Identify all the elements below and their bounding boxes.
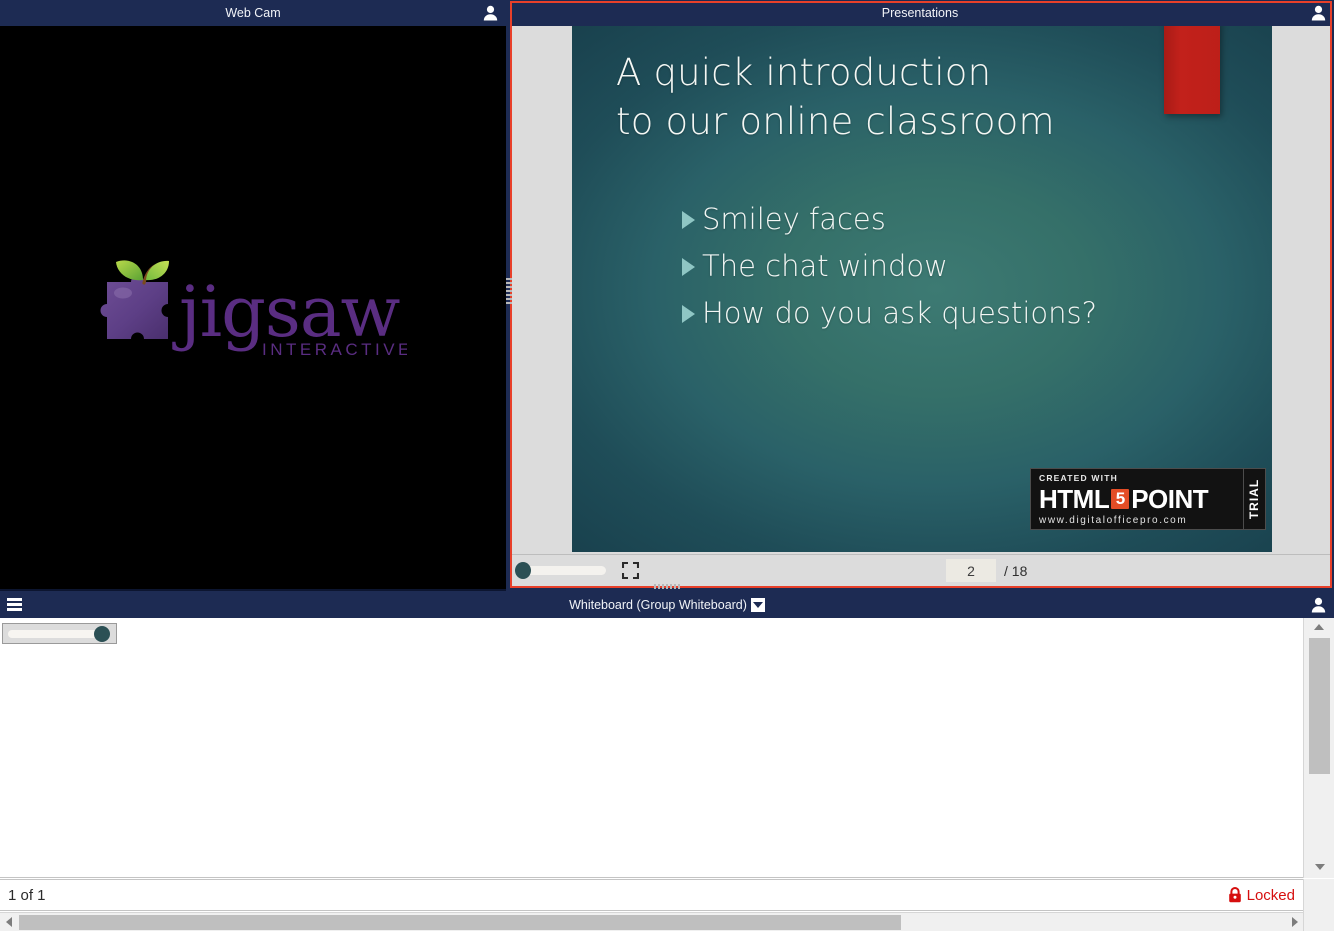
whiteboard-user-icon[interactable] (1311, 597, 1326, 613)
zoom-slider-knob[interactable] (515, 562, 531, 579)
slide-bullet-item: Smiley faces (682, 196, 1222, 243)
watermark-trial-text: TRIAL (1248, 479, 1262, 519)
webcam-panel: Web Cam (0, 0, 506, 591)
hamburger-menu-icon[interactable] (7, 598, 22, 611)
horizontal-scroll-thumb[interactable] (19, 915, 901, 930)
scroll-up-arrow-icon[interactable] (1304, 618, 1334, 635)
watermark-url: www.digitalofficepro.com (1039, 515, 1237, 526)
watermark-brand: HTML 5 POINT (1039, 486, 1237, 512)
page-number-input[interactable] (946, 559, 996, 582)
fullscreen-icon[interactable] (622, 562, 639, 579)
slide-bullet-item: How do you ask questions? (682, 290, 1222, 337)
whiteboard-horizontal-scrollbar[interactable] (0, 912, 1303, 931)
lock-status-label: Locked (1247, 887, 1295, 904)
scrollbar-corner (1303, 879, 1334, 931)
whiteboard-zoom-knob[interactable] (94, 626, 110, 642)
watermark-main: CREATED WITH HTML 5 POINT www.digitaloff… (1031, 469, 1243, 529)
panel-resize-grip-left[interactable] (506, 278, 512, 304)
jigsaw-interactive-logo: jigsaw INTERACTIVE (99, 256, 407, 360)
page-total-label: / 18 (1004, 563, 1027, 579)
whiteboard-canvas[interactable] (0, 618, 1303, 878)
slide-title-line-1: A quick introduction (616, 48, 1176, 97)
horizontal-scroll-track[interactable] (17, 913, 1286, 932)
presentations-user-icon[interactable] (1311, 5, 1326, 21)
whiteboard-zoom-slider[interactable] (2, 623, 117, 644)
watermark-brand-suffix: POINT (1131, 486, 1208, 512)
app-root: Web Cam (0, 0, 1334, 935)
slide-bullet-text: Smiley faces (702, 196, 886, 243)
whiteboard-panel-header: Whiteboard (Group Whiteboard) (0, 591, 1334, 618)
whiteboard-status-bar: 1 of 1 Locked (0, 879, 1303, 911)
watermark-brand-prefix: HTML (1039, 486, 1109, 512)
svg-text:INTERACTIVE: INTERACTIVE (262, 340, 407, 359)
scroll-right-arrow-icon[interactable] (1286, 913, 1303, 932)
slide-title-line-2: to our online classroom (616, 97, 1176, 146)
webcam-panel-title: Web Cam (0, 0, 506, 26)
slide-bullet-text: The chat window (702, 243, 948, 290)
watermark-trial-badge: TRIAL (1243, 469, 1265, 529)
slide-bullet-item: The chat window (682, 243, 1222, 290)
whiteboard-vertical-scrollbar[interactable] (1303, 618, 1334, 878)
lock-icon (1228, 887, 1242, 903)
presentation-viewport[interactable]: A quick introduction to our online class… (512, 26, 1330, 554)
slide-title: A quick introduction to our online class… (616, 48, 1176, 146)
triangle-bullet-icon (682, 211, 695, 229)
presentations-panel-title: Presentations (506, 0, 1334, 26)
presentation-zoom-slider[interactable] (518, 566, 606, 575)
whiteboard-page-indicator: 1 of 1 (8, 887, 46, 904)
whiteboard-panel-title: Whiteboard (Group Whiteboard) (569, 598, 747, 612)
slide-bullet-list: Smiley faces The chat window How do you … (682, 196, 1222, 337)
presentations-panel-header: Presentations (506, 0, 1334, 26)
presentations-panel: Presentations A quick introduction to ou… (506, 0, 1334, 591)
page-navigation-group: / 18 (946, 559, 1027, 582)
webcam-panel-header: Web Cam (0, 0, 506, 26)
slide-bullet-text: How do you ask questions? (702, 290, 1097, 337)
html5-shield-icon: 5 (1111, 489, 1129, 509)
whiteboard-panel: Whiteboard (Group Whiteboard) (0, 591, 1334, 935)
scroll-down-arrow-icon[interactable] (1304, 856, 1334, 878)
triangle-bullet-icon (682, 258, 695, 276)
vertical-scroll-thumb[interactable] (1309, 638, 1330, 774)
whiteboard-title-group[interactable]: Whiteboard (Group Whiteboard) (0, 591, 1334, 618)
watermark-created-with: CREATED WITH (1039, 473, 1237, 483)
whiteboard-zoom-track[interactable] (8, 630, 108, 638)
presentation-toolbar: / 18 (512, 554, 1330, 586)
webcam-video-stage[interactable]: jigsaw INTERACTIVE (0, 26, 506, 589)
webcam-user-icon[interactable] (483, 5, 498, 21)
slide-canvas[interactable]: A quick introduction to our online class… (572, 26, 1272, 552)
html5point-trial-watermark: CREATED WITH HTML 5 POINT www.digitaloff… (1030, 468, 1266, 530)
whiteboard-lock-status[interactable]: Locked (1228, 887, 1295, 904)
panel-resize-grip-bottom[interactable] (654, 584, 680, 589)
scroll-left-arrow-icon[interactable] (0, 913, 17, 932)
chevron-down-icon[interactable] (751, 598, 765, 612)
triangle-bullet-icon (682, 305, 695, 323)
whiteboard-toolbar (0, 618, 1303, 646)
